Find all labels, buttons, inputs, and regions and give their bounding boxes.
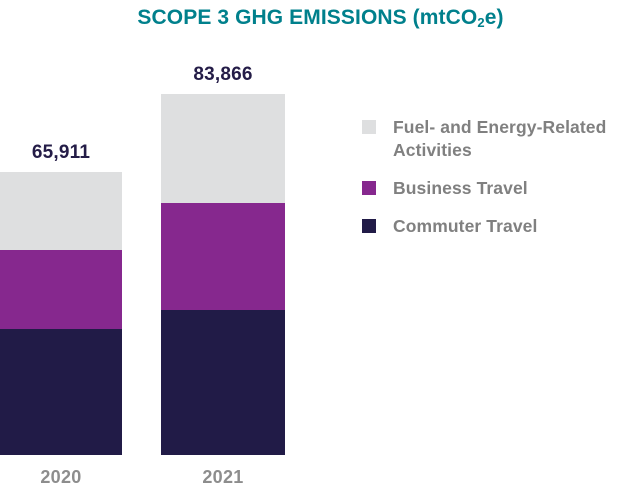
bar-segment-commuter-travel-2020[interactable]	[0, 329, 122, 455]
bar-segment-business-travel-2021[interactable]	[161, 203, 285, 310]
bar-segment-commuter-travel-2021[interactable]	[161, 310, 285, 455]
legend-item-commuter-travel[interactable]: Commuter Travel	[362, 215, 634, 238]
legend-label-fuel-energy-related: Fuel- and Energy-Related Activities	[393, 116, 634, 162]
bar-segment-fuel-energy-related-2020[interactable]	[0, 172, 122, 250]
bar-value-2021: 83,866	[161, 64, 285, 86]
chart-legend: Fuel- and Energy-Related Activities Busi…	[362, 116, 634, 253]
bar-segment-fuel-energy-related-2021[interactable]	[161, 94, 285, 203]
legend-swatch-business-travel-icon	[362, 181, 376, 195]
plot-area: 65,911 2020 83,866 2021	[0, 0, 360, 494]
legend-item-fuel-energy-related[interactable]: Fuel- and Energy-Related Activities	[362, 116, 634, 162]
bar-value-2020: 65,911	[0, 142, 122, 164]
bar-stack-2021	[161, 94, 285, 455]
legend-swatch-commuter-travel-icon	[362, 219, 376, 233]
bar-category-label-2020: 2020	[0, 467, 122, 488]
legend-item-business-travel[interactable]: Business Travel	[362, 177, 634, 200]
legend-swatch-fuel-energy-related-icon	[362, 120, 376, 134]
legend-label-business-travel: Business Travel	[393, 177, 528, 200]
bar-stack-2020	[0, 172, 122, 455]
chart-title-suffix: e)	[485, 6, 504, 29]
bar-category-label-2021: 2021	[161, 467, 285, 488]
legend-label-commuter-travel: Commuter Travel	[393, 215, 537, 238]
bar-segment-business-travel-2020[interactable]	[0, 250, 122, 329]
chart-title-subscript: 2	[477, 15, 484, 30]
